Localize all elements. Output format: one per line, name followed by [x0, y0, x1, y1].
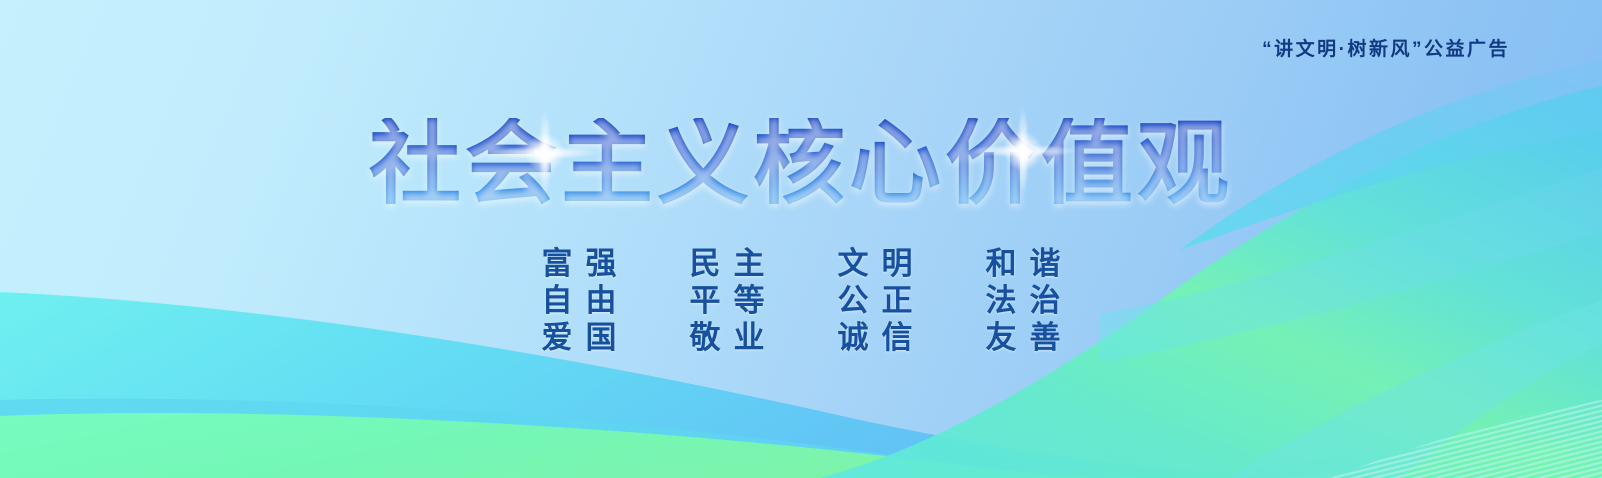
- value-item: 文明: [801, 246, 949, 282]
- value-item: 富强: [505, 246, 653, 282]
- core-values-grid: 富强 民主 文明 和谐 自由 平等 公正 法治 爱国 敬业 诚信 友善: [0, 246, 1602, 356]
- public-service-banner: “讲文明·树新风”公益广告 社会主义核心价值观 社会主义核心价值观 富强 民主 …: [0, 0, 1602, 478]
- value-item: 公正: [801, 283, 949, 319]
- value-item: 爱国: [505, 320, 653, 356]
- public-service-slogan: “讲文明·树新风”公益广告: [1262, 40, 1510, 59]
- value-item: 自由: [505, 283, 653, 319]
- value-item: 法治: [949, 283, 1097, 319]
- value-item: 和谐: [949, 246, 1097, 282]
- value-item: 诚信: [801, 320, 949, 356]
- values-row: 富强 民主 文明 和谐: [505, 246, 1097, 282]
- value-item: 友善: [949, 320, 1097, 356]
- value-item: 民主: [653, 246, 801, 282]
- value-item: 平等: [653, 283, 801, 319]
- background-waves: [0, 0, 1602, 478]
- value-item: 敬业: [653, 320, 801, 356]
- values-row: 爱国 敬业 诚信 友善: [505, 320, 1097, 356]
- values-row: 自由 平等 公正 法治: [505, 283, 1097, 319]
